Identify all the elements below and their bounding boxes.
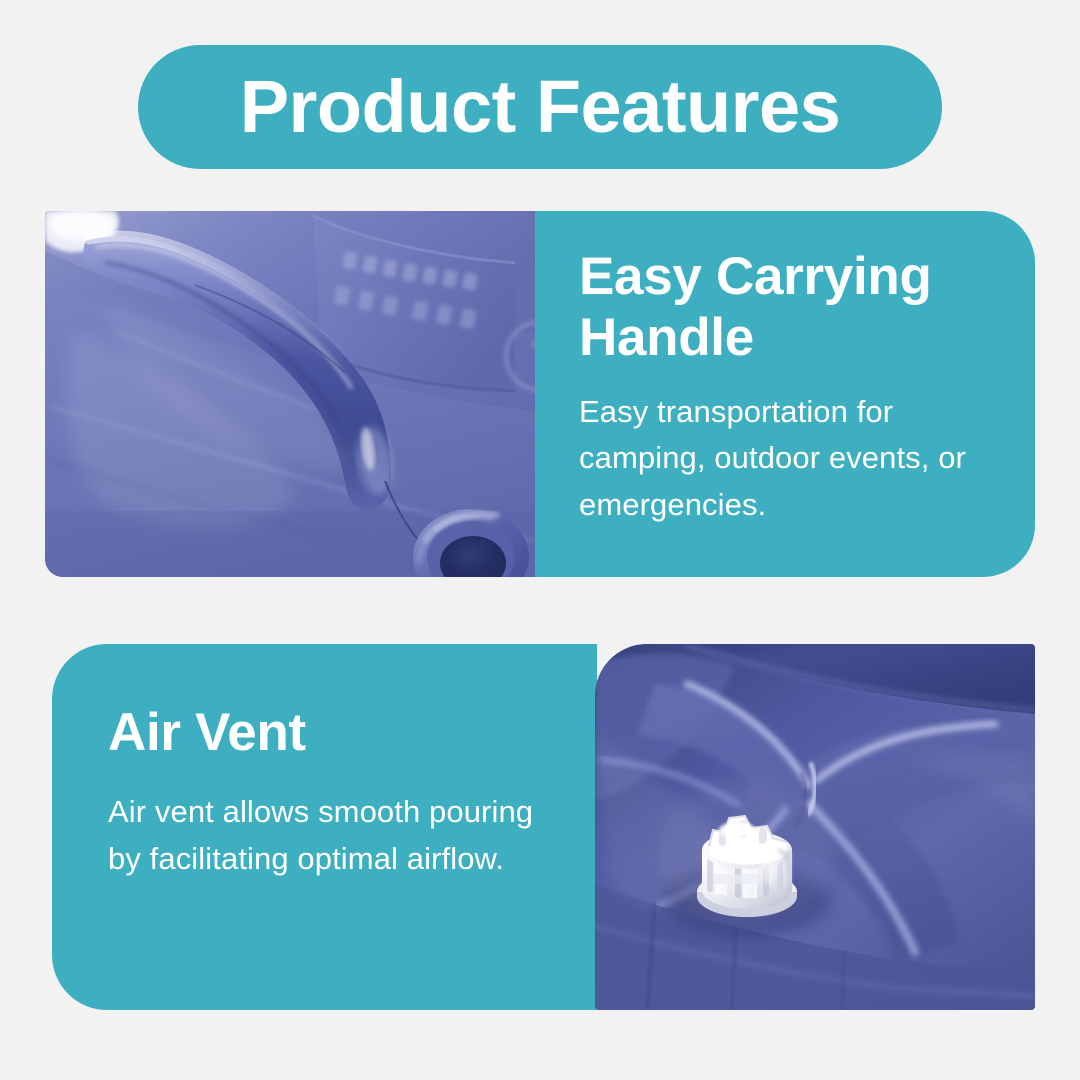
feature-text-pane-air-vent: Air Vent Air vent allows smooth pouring …	[52, 644, 597, 1010]
feature-heading: Easy Carrying Handle	[579, 246, 991, 369]
water-jug-handle-photo	[45, 211, 535, 577]
feature-card-air-vent: Air Vent Air vent allows smooth pouring …	[52, 644, 1035, 1010]
product-features-infographic: Product Features	[0, 0, 1080, 1080]
page-title: Product Features	[240, 70, 841, 144]
feature-heading: Air Vent	[108, 702, 557, 763]
feature-image-easy-carrying-handle	[45, 211, 535, 577]
feature-image-air-vent	[595, 644, 1035, 1010]
air-vent-cap-photo	[595, 644, 1035, 1010]
feature-card-easy-carrying-handle: Easy Carrying Handle Easy transportation…	[45, 211, 1035, 577]
feature-text-pane-easy-carrying-handle: Easy Carrying Handle Easy transportation…	[535, 211, 1035, 577]
page-title-pill: Product Features	[138, 45, 942, 169]
feature-description: Easy transportation for camping, outdoor…	[579, 389, 991, 529]
feature-description: Air vent allows smooth pouring by facili…	[108, 789, 557, 882]
